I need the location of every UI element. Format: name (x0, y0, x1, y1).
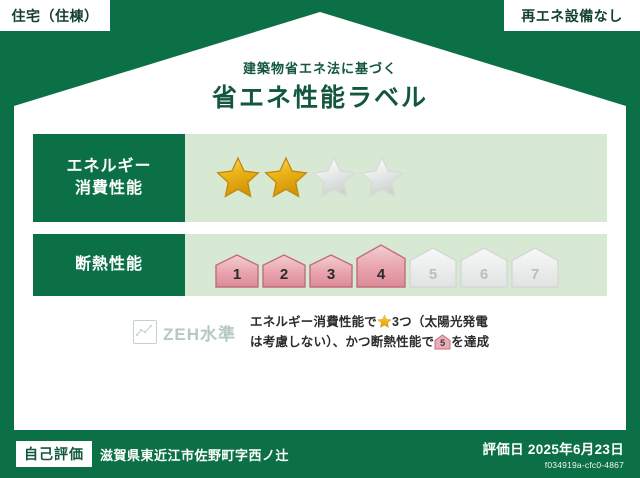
zeh-description-line1: エネルギー消費性能で3つ（太陽光発電 (250, 312, 489, 332)
insulation-level-5: 5 (409, 242, 457, 288)
label-subtitle: 建築物省エネ法に基づく (14, 58, 626, 77)
insulation-level-4: 4 (356, 242, 406, 288)
insulation-level-6: 6 (460, 242, 508, 288)
inline-house-number: 5 (434, 336, 451, 350)
energy-performance-label: エネルギー 消費性能 (33, 134, 185, 222)
house-icon (356, 244, 406, 288)
insulation-level-7: 7 (511, 242, 559, 288)
insulation-performance-label: 断熱性能 (33, 234, 185, 296)
label-content: 建築物省エネ法に基づく 省エネ性能ラベル エネルギー 消費性能 断熱性能 123… (14, 12, 626, 430)
self-evaluation-badge: 自己評価 (16, 441, 92, 467)
property-address: 滋賀県東近江市佐野町字西ノ辻 (100, 445, 289, 464)
insulation-performance-label-line1: 断熱性能 (75, 254, 143, 276)
star-rating (215, 155, 405, 201)
house-icon (262, 254, 306, 288)
zeh-description-line2: は考慮しない）、かつ断熱性能で5を達成 (250, 332, 489, 352)
house-icon (460, 247, 508, 288)
star-filled-icon (263, 155, 309, 201)
label-footer: 自己評価 滋賀県東近江市佐野町字西ノ辻 評価日 2025年6月23日 f0349… (0, 430, 640, 478)
insulation-level-3: 3 (309, 242, 353, 288)
insulation-performance-row: 断熱性能 1234567 (33, 234, 607, 296)
zeh-logo: ZEH水準 (133, 320, 236, 345)
evaluation-id: f034919a-cfc0-4867 (482, 460, 624, 470)
star-empty-icon (311, 155, 357, 201)
house-icon (409, 247, 457, 288)
house-icon (309, 254, 353, 288)
zeh-logo-label: ZEH水準 (163, 320, 236, 345)
star-filled-icon (215, 155, 261, 201)
inline-star-icon (377, 314, 392, 329)
inline-house-badge: 5 (434, 334, 451, 350)
insulation-performance-value: 1234567 (185, 234, 607, 296)
zeh-desc-line1-pre: エネルギー消費性能で (250, 315, 377, 329)
zeh-desc-line1-post: 3つ（太陽光発電 (392, 315, 488, 329)
zeh-desc-line2-pre: は考慮しない）、かつ断熱性能で (250, 335, 434, 349)
footer-meta: 評価日 2025年6月23日 f034919a-cfc0-4867 (482, 438, 624, 470)
energy-performance-row: エネルギー 消費性能 (33, 134, 607, 222)
evaluation-date: 評価日 2025年6月23日 (482, 438, 624, 458)
insulation-level-scale: 1234567 (215, 242, 559, 288)
star-empty-icon (359, 155, 405, 201)
zeh-icon-glyph (134, 321, 155, 342)
energy-performance-value (185, 134, 607, 222)
house-icon (215, 254, 259, 288)
label-page-title: 省エネ性能ラベル (14, 78, 626, 114)
zeh-description: エネルギー消費性能で3つ（太陽光発電 は考慮しない）、かつ断熱性能で5を達成 (250, 312, 489, 352)
energy-performance-label-line2: 消費性能 (75, 178, 143, 200)
energy-performance-label-line1: エネルギー (66, 156, 151, 178)
insulation-level-2: 2 (262, 242, 306, 288)
house-type-badge-label: 住宅（住棟） (12, 6, 99, 26)
renewable-energy-badge-label: 再エネ設備なし (521, 6, 623, 26)
zeh-desc-line2-post: を達成 (451, 335, 489, 349)
renewable-energy-badge: 再エネ設備なし (504, 0, 640, 31)
house-icon (511, 247, 559, 288)
zeh-icon (133, 320, 157, 344)
house-type-badge: 住宅（住棟） (0, 0, 110, 31)
insulation-level-1: 1 (215, 242, 259, 288)
zeh-standard-block: ZEH水準 エネルギー消費性能で3つ（太陽光発電 は考慮しない）、かつ断熱性能で… (33, 312, 607, 352)
